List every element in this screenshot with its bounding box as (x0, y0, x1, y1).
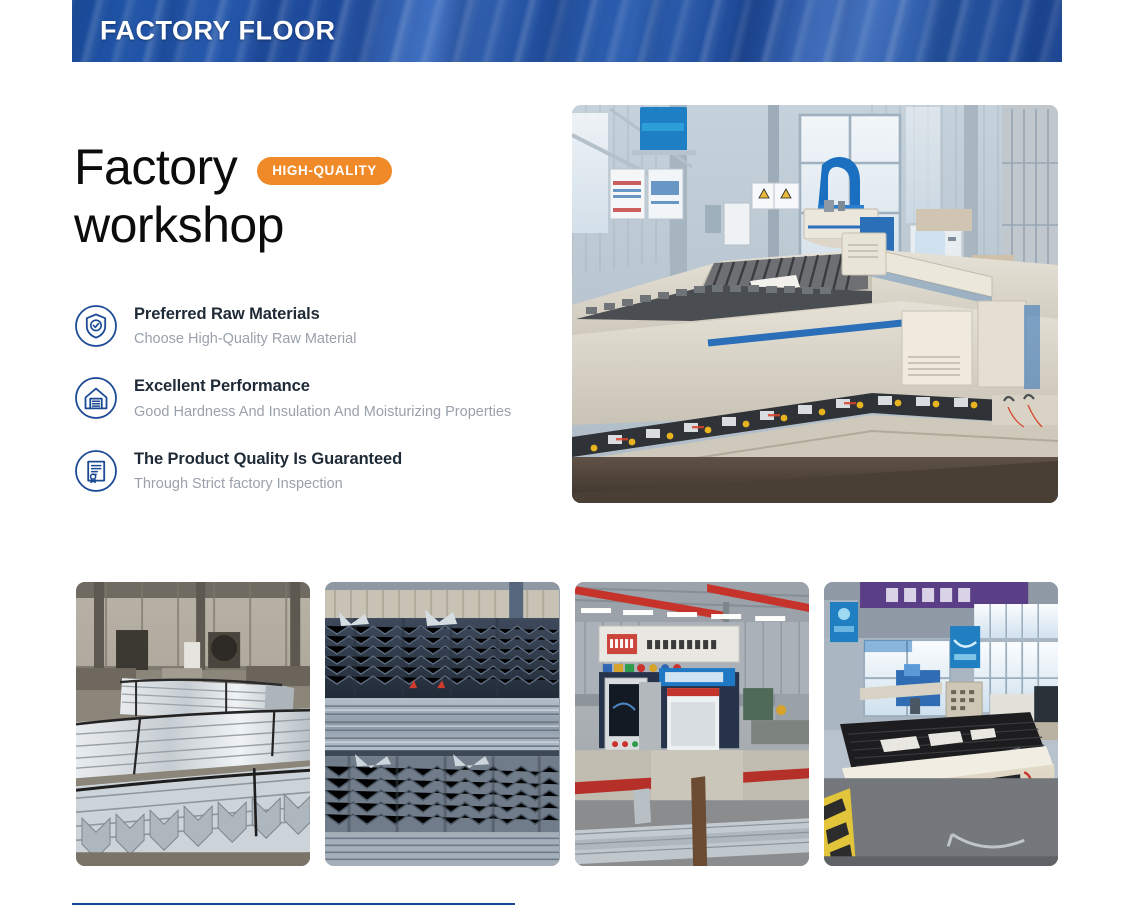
factory-gallery (76, 582, 1058, 866)
laser-tube-cutting-machine-photo (575, 582, 809, 866)
heading-row: Factory HIGH-QUALITY (74, 138, 544, 196)
feature-text: Preferred Raw Materials Choose High-Qual… (134, 302, 356, 349)
feature-subtitle: Choose High-Quality Raw Material (134, 330, 356, 349)
feature-subtitle: Good Hardness And Insulation And Moistur… (134, 403, 511, 422)
banner-title: FACTORY FLOOR (100, 16, 336, 47)
feature-title: Preferred Raw Materials (134, 304, 356, 325)
feature-text: The Product Quality Is Guaranteed Throug… (134, 447, 402, 494)
page-title-line-1: Factory (74, 138, 237, 196)
page-banner: FACTORY FLOOR (72, 0, 1062, 62)
cnc-laser-cutting-machine-photo (572, 105, 1058, 503)
feature-subtitle: Through Strict factory Inspection (134, 475, 402, 494)
feature-title: The Product Quality Is Guaranteed (134, 449, 402, 470)
galvanized-steel-profiles-photo (76, 582, 310, 866)
feature-item: Excellent Performance Good Hardness And … (74, 374, 544, 421)
warehouse-icon (74, 376, 118, 420)
feature-item: Preferred Raw Materials Choose High-Qual… (74, 302, 544, 349)
stacked-metal-sheets-photo (325, 582, 559, 866)
intro-column: Factory HIGH-QUALITY workshop Preferred … (74, 138, 544, 494)
fiber-laser-cutting-bed-photo (824, 582, 1058, 866)
high-quality-badge: HIGH-QUALITY (257, 157, 392, 185)
feature-text: Excellent Performance Good Hardness And … (134, 374, 511, 421)
shield-check-icon (74, 304, 118, 348)
section-divider (72, 903, 515, 905)
certificate-icon (74, 449, 118, 493)
feature-list: Preferred Raw Materials Choose High-Qual… (74, 302, 544, 494)
feature-title: Excellent Performance (134, 376, 511, 397)
feature-item: The Product Quality Is Guaranteed Throug… (74, 447, 544, 494)
factory-floor-page: FACTORY FLOOR Factory HIGH-QUALITY works… (0, 0, 1133, 910)
page-title-line-2: workshop (74, 196, 544, 254)
